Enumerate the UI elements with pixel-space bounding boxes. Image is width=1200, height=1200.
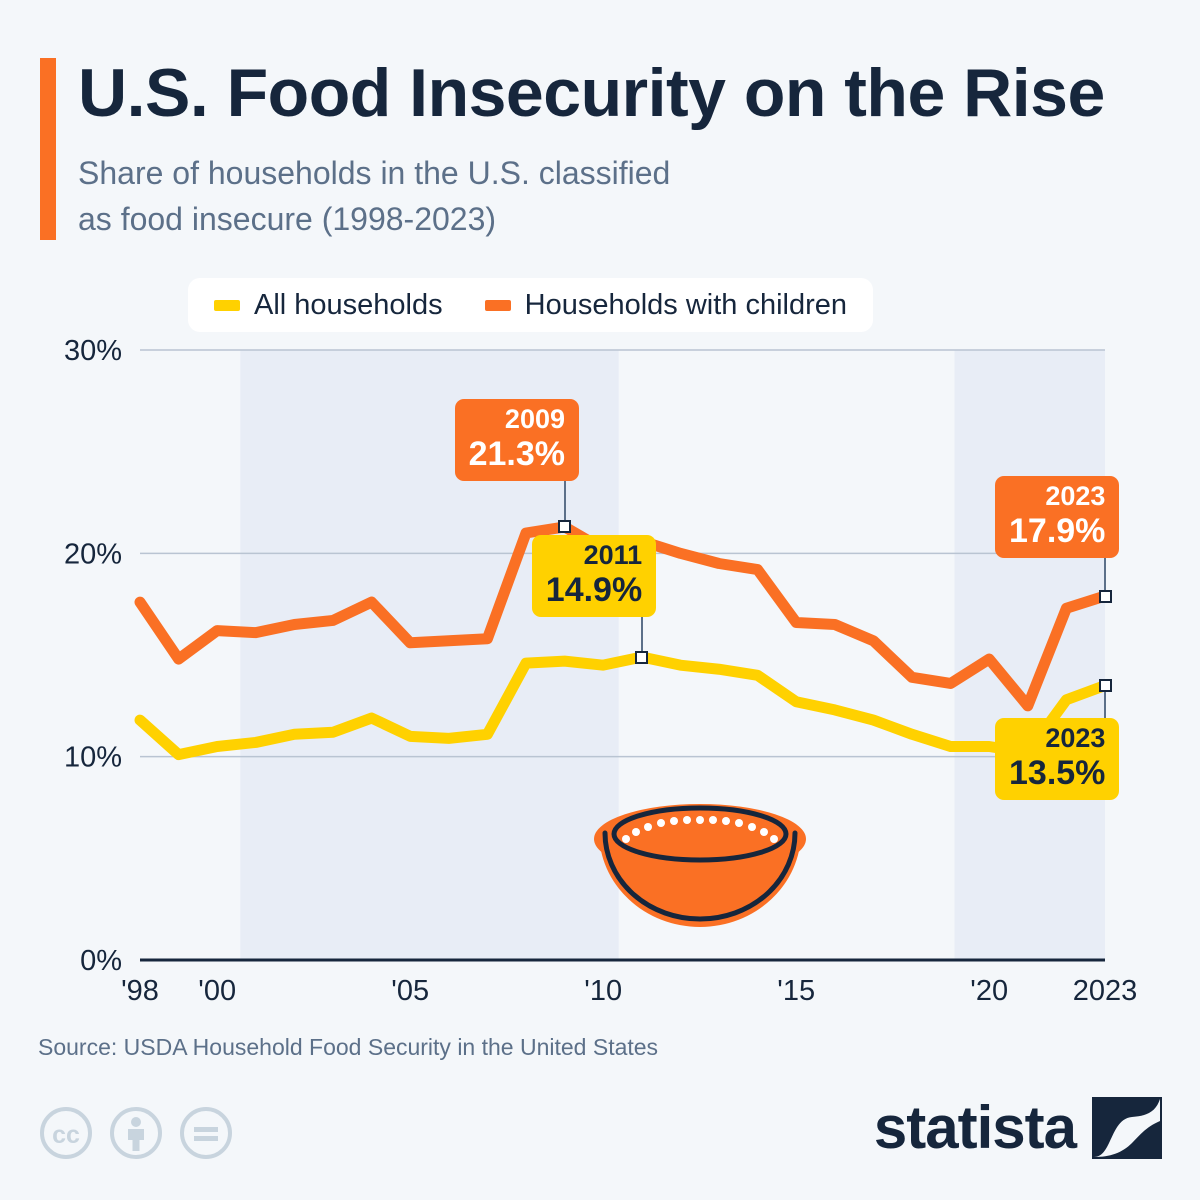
cc-nd-equals-icon[interactable] [178,1105,234,1161]
x-tick-label: '05 [391,975,429,1007]
cc-icon[interactable]: cc [38,1105,94,1161]
y-tick-label: 10% [64,742,122,774]
callout-value: 17.9% [1009,514,1105,548]
y-tick-label: 20% [64,538,122,570]
data-point-marker [1099,590,1112,603]
statista-wordmark: statista [874,1093,1076,1162]
callout-value: 21.3% [469,437,565,471]
callout-year: 2023 [1009,725,1105,752]
data-point-marker [558,520,571,533]
callout-2011-yellow: 201114.9% [532,535,656,617]
x-tick-label: 2023 [1073,975,1138,1007]
x-tick-label: '98 [121,975,159,1007]
statista-logo[interactable]: statista [874,1093,1162,1162]
bowl-illustration [594,804,806,927]
callout-value: 14.9% [546,573,642,607]
x-tick-label: '15 [777,975,815,1007]
callout-value: 13.5% [1009,756,1105,790]
chart-area: 0%10%20%30% '98'00'05'10'15'202023 [0,0,1200,1200]
infographic-page: U.S. Food Insecurity on the Rise Share o… [0,0,1200,1200]
callout-year: 2009 [469,406,565,433]
data-point-marker [635,651,648,664]
cc-by-person-icon[interactable] [108,1105,164,1161]
x-axis-tick-labels: '98'00'05'10'15'202023 [121,975,1137,1007]
callout-year: 2011 [546,542,642,569]
y-tick-label: 0% [80,945,122,977]
statista-mark-icon [1092,1097,1162,1159]
y-axis-tick-labels: 0%10%20%30% [64,335,122,977]
callout-2023-orange: 202317.9% [995,476,1119,558]
callout-2023-yellow: 202313.5% [995,718,1119,800]
x-tick-label: '20 [970,975,1008,1007]
callout-2009-orange: 200921.3% [455,399,579,481]
callout-year: 2023 [1009,483,1105,510]
source-text: Source: USDA Household Food Security in … [38,1034,658,1061]
data-point-marker [1099,679,1112,692]
svg-text:cc: cc [52,1121,80,1149]
creative-commons-badges: cc [38,1105,234,1161]
x-tick-label: '10 [584,975,622,1007]
y-tick-label: 30% [64,335,122,367]
x-tick-label: '00 [198,975,236,1007]
